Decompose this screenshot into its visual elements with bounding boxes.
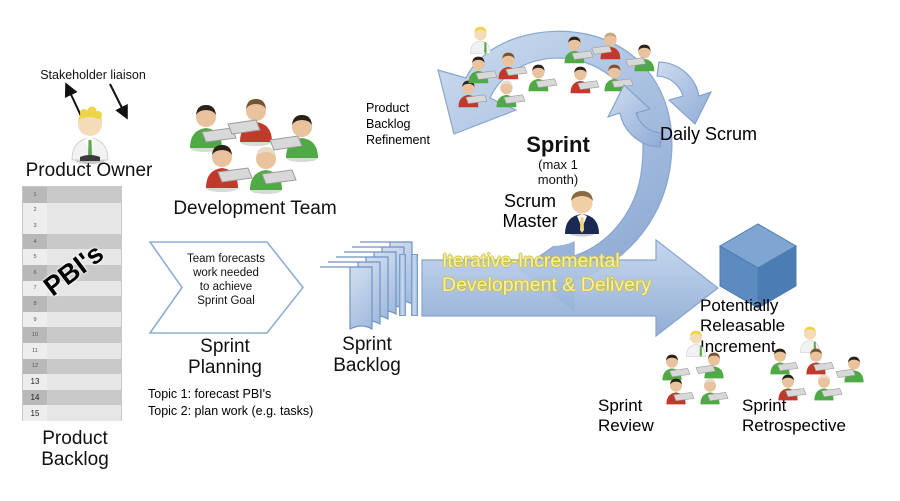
planning-line-4: Sprint Goal	[197, 295, 255, 307]
development-team-icon	[178, 96, 328, 201]
scrum-master-line2: Master	[502, 211, 557, 231]
product-backlog-table[interactable]: 1 2 3 4 5 6 7 8 9 10 11 12 13 14 15	[22, 186, 122, 421]
backlog-row-number: 2	[23, 203, 47, 219]
sprint-duration-line1: (max 1	[538, 157, 578, 172]
scrum-master-icon	[561, 190, 603, 238]
product-backlog-label: Product Backlog	[10, 428, 140, 471]
pbr-line1: Product	[366, 101, 409, 115]
sprint-planning-label-line2: Planning	[188, 357, 262, 378]
backlog-row-number: 3	[23, 218, 47, 234]
sprint-review-line1: Sprint	[598, 396, 642, 415]
sprint-review-line2: Review	[598, 416, 654, 435]
backlog-row-number: 4	[23, 234, 47, 250]
backlog-row-cell	[47, 312, 121, 328]
product-backlog-label-line2: Backlog	[41, 449, 109, 470]
sprint-review-label: Sprint Review	[598, 396, 683, 437]
backlog-row-number: 9	[23, 312, 47, 328]
planning-line-1: Team forecasts	[187, 253, 265, 265]
separator-bar-2	[411, 254, 418, 316]
delivery-line2: Development & Delivery	[442, 274, 651, 296]
backlog-row-cell	[47, 203, 121, 219]
daily-scrum-label: Daily Scrum	[660, 124, 790, 145]
planning-topic-2: Topic 2: plan work (e.g. tasks)	[148, 403, 378, 420]
delivery-arrow-text: Iterative-Incremental Development & Deli…	[442, 250, 698, 298]
sprint-planning-label-line1: Sprint	[200, 336, 250, 357]
pbr-line2: Backlog	[366, 117, 410, 131]
sprint-retro-line1: Sprint	[742, 396, 786, 415]
sprint-planning-label: Sprint Planning	[155, 336, 295, 379]
planning-line-3: to achieve	[200, 281, 252, 293]
sprint-title: Sprint	[503, 133, 613, 158]
planning-line-2: work needed	[193, 267, 259, 279]
backlog-row-number: 5	[23, 249, 47, 265]
backlog-row-number: 14	[23, 390, 47, 406]
sprint-duration-label: (max 1 month)	[503, 158, 613, 188]
backlog-row-cell	[47, 374, 121, 390]
sprint-retro-line2: Retrospective	[742, 416, 846, 435]
backlog-row-number: 1	[23, 187, 47, 203]
development-team-label: Development Team	[160, 198, 350, 219]
product-backlog-label-line1: Product	[42, 428, 107, 449]
backlog-row-number: 12	[23, 359, 47, 375]
planning-topic-1: Topic 1: forecast PBI's	[148, 386, 378, 403]
separator-bar-1	[399, 254, 406, 316]
backlog-row-cell	[47, 390, 121, 406]
sprint-planning-chevron-text: Team forecasts work needed to achieve Sp…	[170, 252, 282, 308]
backlog-row-number: 15	[23, 405, 47, 421]
sprint-backlog-label: Sprint Backlog	[312, 334, 422, 377]
product-owner-icon	[62, 104, 118, 166]
sprint-backlog-label-line2: Backlog	[333, 355, 401, 376]
delivery-line1: Iterative-Incremental	[442, 250, 620, 272]
sprint-planning-topics: Topic 1: forecast PBI's Topic 2: plan wo…	[148, 386, 378, 420]
backlog-row-cell	[47, 327, 121, 343]
backlog-row-cell	[47, 405, 121, 421]
pbr-line3: Refinement	[366, 133, 430, 147]
backlog-row-cell	[47, 187, 121, 203]
sprint-duration-line2: month)	[538, 172, 578, 187]
sprint-backlog-label-line1: Sprint	[342, 334, 392, 355]
sprint-retrospective-label: Sprint Retrospective	[742, 396, 892, 437]
scrum-master-line1: Scrum	[504, 191, 556, 211]
backlog-row-number: 10	[23, 327, 47, 343]
increment-line1: Potentially	[700, 296, 778, 315]
backlog-row-number: 8	[23, 296, 47, 312]
backlog-row-cell	[47, 218, 121, 234]
backlog-row-cell	[47, 359, 121, 375]
product-owner-label: Product Owner	[8, 160, 170, 181]
backlog-row-number: 11	[23, 343, 47, 359]
product-backlog-refinement-label: Product Backlog Refinement	[366, 100, 458, 148]
backlog-row-cell	[47, 343, 121, 359]
backlog-row-number: 13	[23, 374, 47, 390]
